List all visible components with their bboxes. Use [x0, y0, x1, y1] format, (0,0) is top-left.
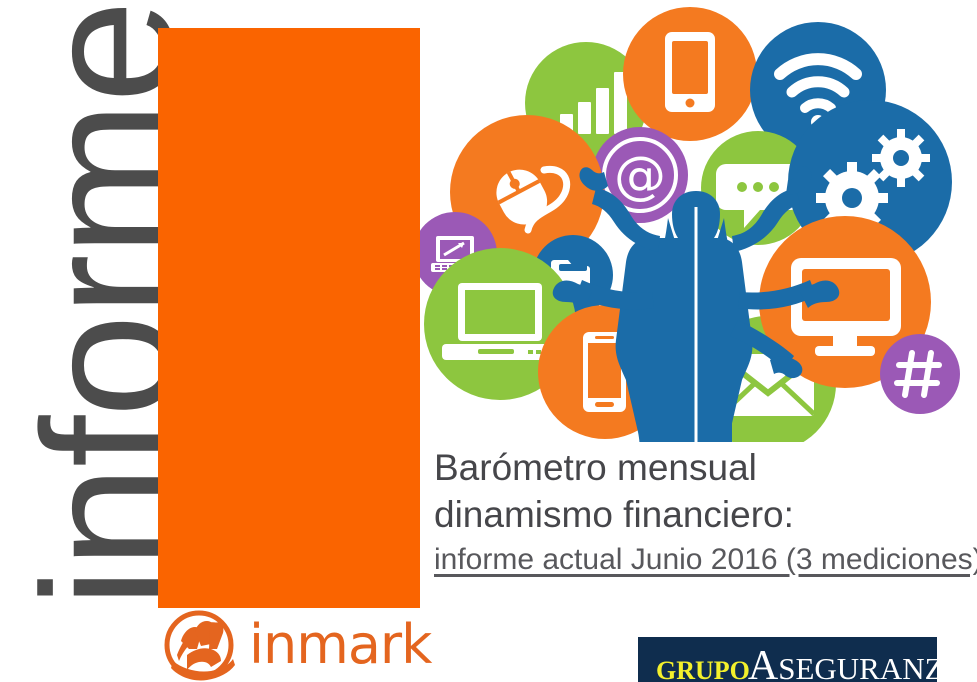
grupo-aseguranza-inner: GRUPO ASEGURANZA [656, 645, 937, 682]
aseguranza-label: ASEGURANZA [748, 645, 937, 682]
inmark-logo: inmark [163, 609, 423, 681]
orange-panel [158, 28, 420, 608]
aseguranza-rest: SEGURANZA [778, 651, 937, 682]
inmark-globe-figures-mark [163, 609, 235, 681]
svg-text:@: @ [614, 146, 666, 206]
slide-canvas: informe [0, 0, 977, 682]
hashtag-icon [880, 334, 960, 414]
title-line-2: dinamismo financiero: [434, 491, 974, 538]
aseguranza-initial: A [748, 643, 778, 682]
grupo-aseguranza-logo: GRUPO ASEGURANZA [638, 637, 937, 682]
tablet-icon [623, 7, 757, 141]
title-line-1: Barómetro mensual [434, 444, 974, 491]
inmark-wordmark: inmark [249, 618, 431, 672]
title-block: Barómetro mensual dinamismo financiero: … [434, 444, 974, 578]
digital-multitasking-illustration: @ [420, 2, 977, 442]
subtitle-line: informe actual Junio 2016 (3 mediciones) [434, 541, 974, 579]
grupo-label: GRUPO [656, 658, 750, 682]
